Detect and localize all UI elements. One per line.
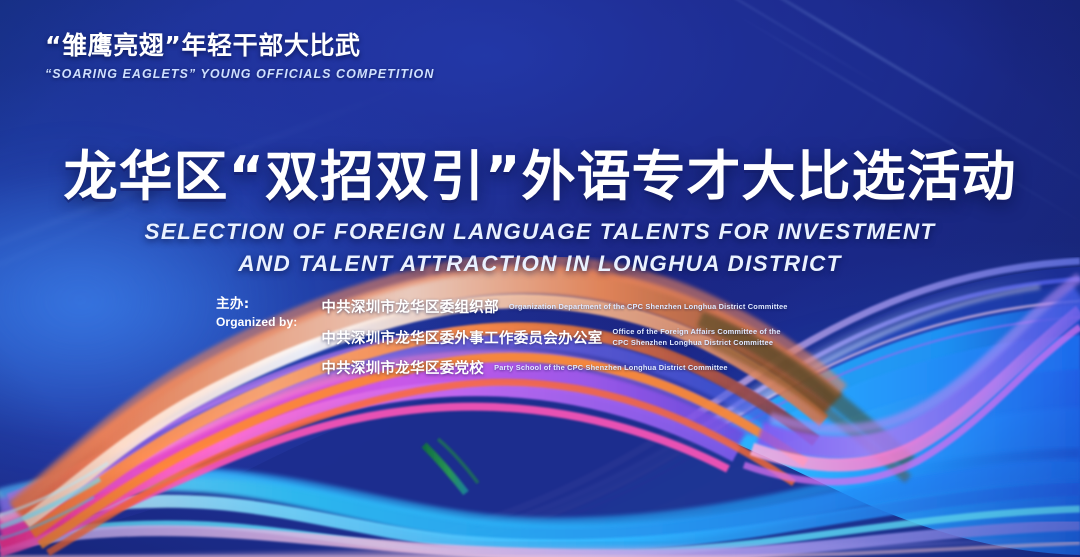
organizer-item: 中共深圳市龙华区委组织部 Organization Department of …	[321, 296, 787, 317]
kicker-chinese: “雏鹰亮翅”年轻干部大比武	[45, 26, 434, 62]
page-subtitle: SELECTION OF FOREIGN LANGUAGE TALENTS FO…	[0, 216, 1080, 280]
organizer-name-chinese: 中共深圳市龙华区委组织部	[321, 296, 499, 317]
organizers-list: 中共深圳市龙华区委组织部 Organization Department of …	[321, 295, 787, 378]
poster-banner: “雏鹰亮翅”年轻干部大比武 “SOARING EAGLETS” YOUNG OF…	[0, 0, 1080, 557]
organizer-name-chinese: 中共深圳市龙华区委外事工作委员会办公室	[321, 327, 602, 348]
organizer-item: 中共深圳市龙华区委党校 Party School of the CPC Shen…	[321, 357, 787, 378]
organizers-label: 主办: Organized by:	[216, 295, 297, 378]
page-title: 龙华区“双招双引”外语专才大比选活动	[0, 132, 1080, 211]
light-streak	[631, 0, 889, 91]
kicker-block: “雏鹰亮翅”年轻干部大比武 “SOARING EAGLETS” YOUNG OF…	[45, 26, 434, 81]
organizer-name-english: Organization Department of the CPC Shenz…	[509, 301, 788, 312]
organizer-name-english: Party School of the CPC Shenzhen Longhua…	[494, 362, 728, 373]
organizer-english-line: Office of the Foreign Affairs Committee …	[613, 326, 781, 337]
organizer-name-english: Office of the Foreign Affairs Committee …	[613, 326, 781, 348]
organizer-english-line: Organization Department of the CPC Shenz…	[509, 301, 788, 312]
organizers-label-english: Organized by:	[216, 314, 297, 330]
page-subtitle-line1: SELECTION OF FOREIGN LANGUAGE TALENTS FO…	[0, 216, 1080, 248]
organizers-block: 主办: Organized by: 中共深圳市龙华区委组织部 Organizat…	[216, 295, 788, 378]
kicker-english: “SOARING EAGLETS” YOUNG OFFICIALS COMPET…	[45, 67, 434, 81]
organizers-label-chinese: 主办:	[216, 296, 297, 314]
organizer-name-chinese: 中共深圳市龙华区委党校	[321, 357, 484, 378]
page-subtitle-line2: AND TALENT ATTRACTION IN LONGHUA DISTRIC…	[0, 248, 1080, 280]
organizer-english-line: Party School of the CPC Shenzhen Longhua…	[494, 362, 728, 373]
organizer-item: 中共深圳市龙华区委外事工作委员会办公室 Office of the Foreig…	[321, 326, 787, 348]
organizer-english-line: CPC Shenzhen Longhua District Committee	[613, 337, 781, 348]
